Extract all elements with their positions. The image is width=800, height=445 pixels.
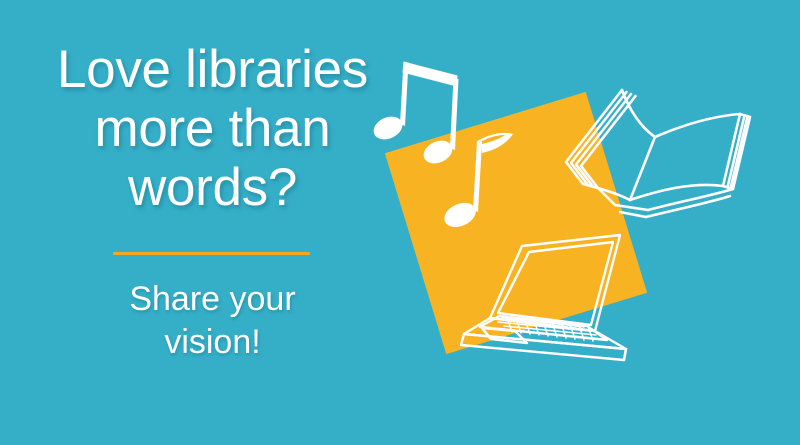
headline-line-2: more than <box>0 99 425 158</box>
divider-rule <box>113 252 310 255</box>
poster-canvas: Love libraries more than words? Share yo… <box>0 0 800 445</box>
subheadline-line-2: vision! <box>0 321 425 364</box>
headline: Love libraries more than words? <box>0 40 425 217</box>
headline-line-1: Love libraries <box>0 40 425 99</box>
headline-line-3: words? <box>0 158 425 217</box>
subheadline: Share your vision! <box>0 278 425 364</box>
subheadline-line-1: Share your <box>0 278 425 321</box>
text-column: Love libraries more than words? Share yo… <box>0 0 425 445</box>
